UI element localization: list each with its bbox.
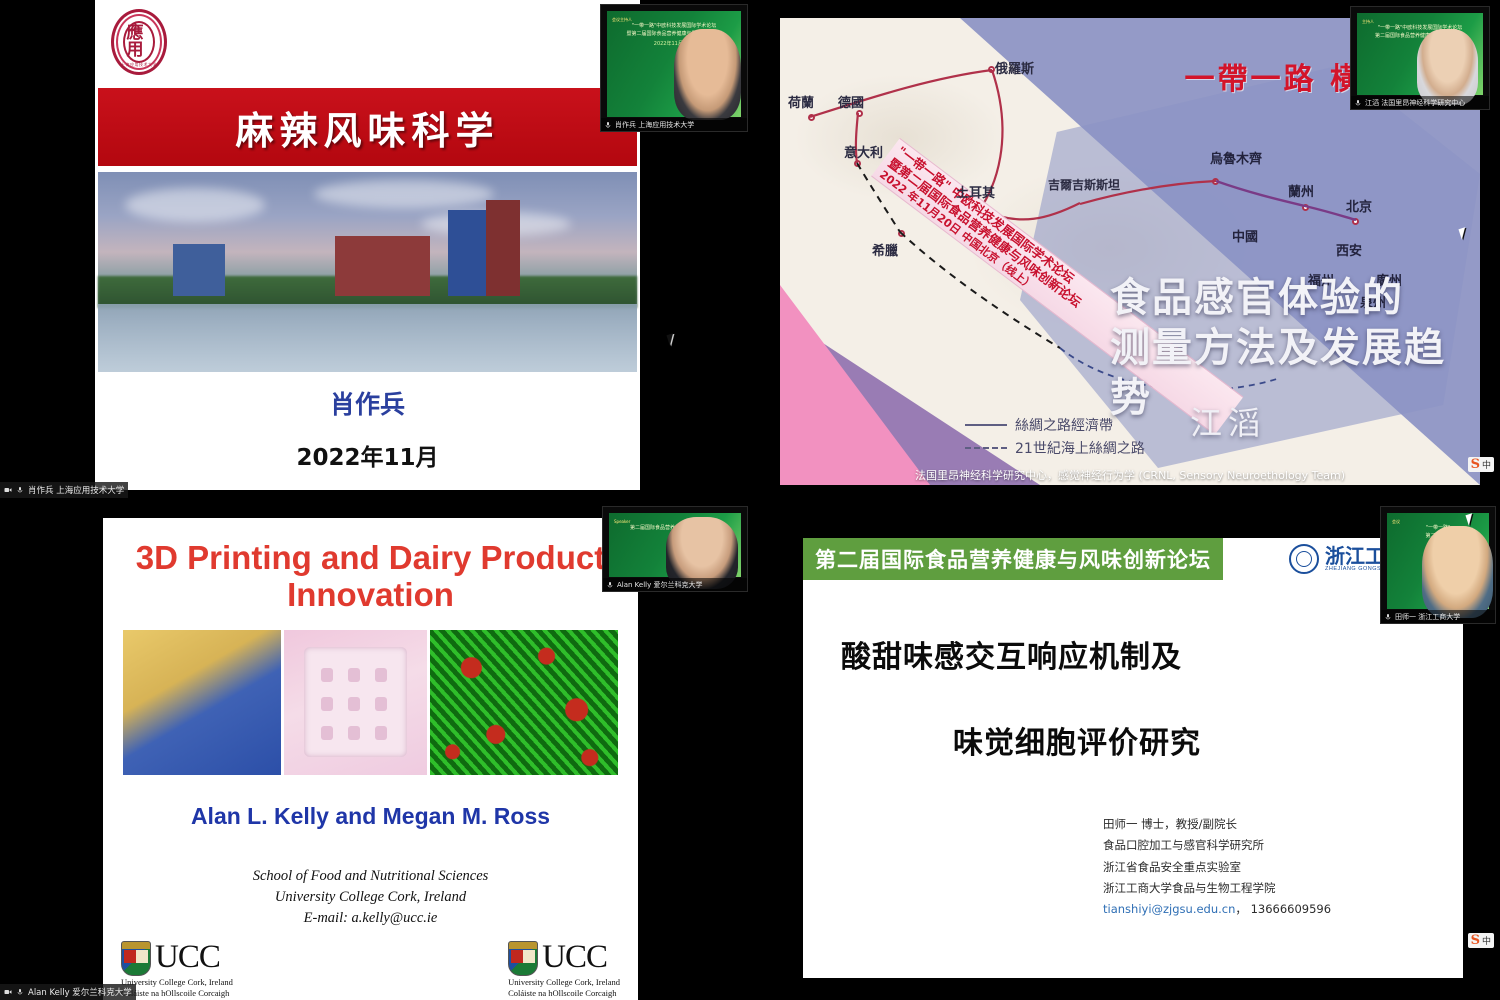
affiliation-line: 浙江省食品安全重点实验室	[1103, 857, 1403, 878]
ime-mode-label: 中	[1482, 934, 1491, 947]
slide-title-line-2: Innovation	[103, 577, 638, 614]
slide-mala-flavor-science: 應用 上海应用技术大学 麻辣风味科学 肖作兵 2022年11月	[95, 0, 640, 490]
zjgsu-seal-icon	[1289, 544, 1319, 574]
webcam-thumbnail-xiaozuobing[interactable]: 会议主持人 "一带一路"中欧科技发展国际学术论坛暨第二届国际食品营养健康与风味创…	[600, 4, 748, 132]
ucc-sub-en: University College Cork, Ireland	[508, 977, 620, 987]
panel-bottom-left[interactable]: 3D Printing and Dairy Product Innovation…	[0, 500, 750, 1000]
slide-title-line-1: 3D Printing and Dairy Product	[103, 540, 638, 577]
slide-date: 2022年11月	[95, 438, 640, 472]
legend-solid-line-icon	[965, 424, 1007, 426]
forum-banner-text: 第二届国际食品营养健康与风味创新论坛	[815, 544, 1211, 574]
webcam-name: 江滔 法国里昂神经科学研究中心	[1365, 98, 1465, 108]
webcam-name-label: 田师一 浙江工商大学	[1381, 610, 1495, 623]
panel-bottom-right[interactable]: 第二届国际食品营养健康与风味创新论坛 浙江工商大学 ZHEJIANG GONGS…	[770, 500, 1500, 1000]
map-city-label: 荷蘭	[788, 92, 814, 111]
slide-sweet-sour-taste: 第二届国际食品营养健康与风味创新论坛 浙江工商大学 ZHEJIANG GONGS…	[803, 538, 1463, 978]
forum-banner: 第二届国际食品营养健康与风味创新论坛	[803, 538, 1223, 580]
map-city-label: 西安	[1336, 240, 1362, 259]
panel-top-left[interactable]: 應用 上海应用技术大学 麻辣风味科学 肖作兵 2022年11月	[0, 0, 750, 500]
slide-authors: Alan L. Kelly and Megan M. Ross	[103, 803, 638, 830]
slide-author: 肖作兵	[95, 385, 640, 421]
participant-name: Alan Kelly 爱尔兰科克大学	[28, 986, 132, 998]
ime-mode-label: 中	[1482, 458, 1491, 471]
webcam-name: 肖作兵 上海应用技术大学	[615, 120, 694, 130]
map-city-label: 中國	[1232, 226, 1258, 245]
map-city-label: 俄羅斯	[995, 58, 1034, 77]
map-city-label: 蘭州	[1288, 181, 1314, 200]
webcam-name: Alan Kelly 爱尔兰科克大学	[617, 580, 703, 590]
slide-title-line-1: 食品感官体验的	[1110, 273, 1480, 323]
webcam-name: 田师一 浙江工商大学	[1395, 612, 1460, 622]
webcam-thumbnail-jiangtao[interactable]: 主持人 "一带一路"中欧科技发展国际学术论坛第二届国际食品营养健康与风味创新论坛…	[1350, 6, 1490, 110]
slide-title-bar: 麻辣风味科学	[98, 88, 637, 166]
slide-affiliation: 田师一 博士，教授/副院长 食品口腔加工与感官科学研究所 浙江省食品安全重点实验…	[803, 814, 1403, 920]
ucc-sub-ga: Coláiste na hOllscoile Corcaigh	[121, 988, 233, 998]
webcam-thumbnail-tianshiyi[interactable]: 会议 "一带一路"第二届论坛 田师一 浙江工商大学	[1380, 506, 1496, 624]
slide-title-line-1: 酸甜味感交互响应机制及	[841, 632, 1463, 676]
slide-title-line-2: 味觉细胞评价研究	[953, 718, 1463, 762]
map-legend: 絲綢之路經濟帶 21世紀海上絲綢之路	[965, 415, 1145, 461]
webcam-name-label: Alan Kelly 爱尔兰科克大学	[603, 578, 747, 591]
ucc-wordmark: UCC	[542, 943, 607, 973]
affiliation-line: 田师一 博士，教授/副院长	[1103, 814, 1403, 835]
ucc-wordmark: UCC	[155, 943, 220, 973]
ucc-sub-en: University College Cork, Ireland	[121, 977, 233, 987]
slide-3d-printing-dairy: 3D Printing and Dairy Product Innovation…	[103, 518, 638, 1000]
microphone-icon	[604, 121, 612, 129]
sogou-logo-icon: S	[1471, 934, 1480, 947]
ime-indicator[interactable]: S 中	[1468, 457, 1494, 472]
slide-title: 3D Printing and Dairy Product Innovation	[103, 540, 638, 614]
legend-label: 21世紀海上絲綢之路	[1015, 438, 1145, 458]
slide-affiliation: School of Food and Nutritional Sciences …	[103, 866, 638, 929]
slide-title-line-2: 测量方法及发展趋势	[1110, 323, 1480, 423]
legend-label: 絲綢之路經濟帶	[1015, 415, 1113, 435]
slide-speaker: 江滔	[1190, 398, 1266, 444]
slide-caption: 法国里昂神经科学研究中心，感觉神经行为学 (CRNL, Sensory Neur…	[780, 467, 1480, 483]
ucc-crest-icon	[508, 941, 538, 976]
microphone-icon	[1354, 99, 1362, 107]
map-city-label: 希臘	[872, 240, 898, 259]
contact-phone: 13666609596	[1251, 902, 1331, 916]
ucc-crest-icon	[121, 941, 151, 976]
affiliation-email: E-mail: a.kelly@ucc.ie	[103, 908, 638, 929]
microphone-icon	[1384, 613, 1392, 621]
affiliation-line: 浙江工商大学食品与生物工程学院	[1103, 878, 1403, 899]
microphone-icon	[606, 581, 614, 589]
map-city-label: 土耳其	[956, 182, 995, 201]
university-seal-icon: 應用 上海应用技术大学	[111, 9, 167, 75]
camera-icon	[4, 486, 12, 494]
affiliation-line-1: School of Food and Nutritional Sciences	[103, 866, 638, 887]
seal-arc-text: 上海应用技术大学	[114, 62, 164, 68]
confocal-micrograph	[430, 630, 618, 775]
microphone-icon	[16, 486, 24, 494]
printed-lattice-photo	[284, 630, 427, 775]
sogou-logo-icon: S	[1471, 458, 1480, 471]
panel-top-right[interactable]: 一帶一路 橫貫歐亞 "一带一路"	[770, 0, 1500, 500]
webcam-name-label: 肖作兵 上海应用技术大学	[601, 118, 747, 131]
ucc-logo-right: UCC University College Cork, Ireland Col…	[508, 941, 620, 998]
microphone-icon	[16, 988, 24, 996]
slide-header: 第二届国际食品营养健康与风味创新论坛 浙江工商大学 ZHEJIANG GONGS…	[803, 538, 1463, 580]
participant-badge-top-left: 肖作兵 上海应用技术大学	[0, 482, 128, 498]
map-city-label: 意大利	[844, 142, 883, 161]
map-city-label: 德國	[838, 92, 864, 111]
map-city-label: 烏魯木齊	[1210, 148, 1262, 167]
slide-image-row	[123, 630, 618, 775]
participant-name: 肖作兵 上海应用技术大学	[28, 484, 124, 496]
map-city-label: 北京	[1346, 196, 1372, 215]
legend-dashed-line-icon	[965, 447, 1007, 449]
printer-photo	[123, 630, 281, 775]
ucc-sub-ga: Coláiste na hOllscoile Corcaigh	[508, 988, 620, 998]
name-badge-alan-kelly: Alan Kelly 爱尔兰科克大学	[0, 984, 136, 1000]
webcam-thumbnail-alan-kelly[interactable]: Speaker 第二届国际食品营养健康与风味创新论坛 Alan Kelly 爱尔…	[602, 506, 748, 592]
ucc-logo-left: UCC University College Cork, Ireland Col…	[121, 941, 233, 998]
ime-indicator[interactable]: S 中	[1468, 933, 1494, 948]
contact-email[interactable]: tianshiyi@zjgsu.edu.cn	[1103, 902, 1235, 916]
slide-title: 食品感官体验的 测量方法及发展趋势	[1110, 273, 1480, 423]
affiliation-line: 食品口腔加工与感官科学研究所	[1103, 835, 1403, 856]
video-conference-grid: 應用 上海应用技术大学 麻辣风味科学 肖作兵 2022年11月	[0, 0, 1500, 1000]
affiliation-line-2: University College Cork, Ireland	[103, 887, 638, 908]
camera-icon	[4, 988, 12, 996]
mouse-cursor	[666, 333, 676, 346]
campus-photo	[98, 172, 637, 372]
webcam-name-label: 江滔 法国里昂神经科学研究中心	[1351, 96, 1489, 109]
slide-title: 麻辣风味科学	[235, 100, 499, 155]
map-city-label: 吉爾吉斯斯坦	[1048, 176, 1120, 193]
